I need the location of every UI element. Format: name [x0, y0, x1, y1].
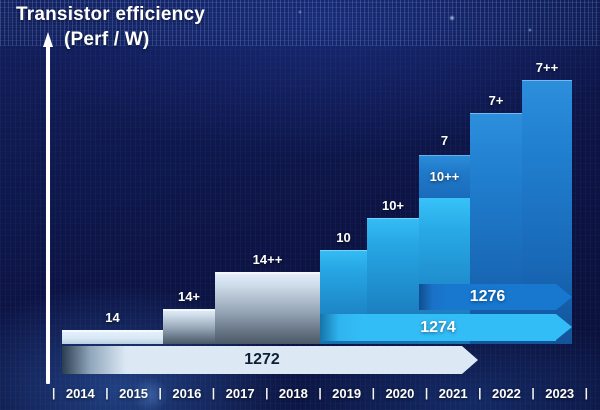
axis-year-2015: 2015 [111, 386, 157, 401]
axis-tick: | [423, 386, 430, 400]
bar-segment [215, 272, 320, 344]
y-axis [43, 32, 52, 384]
bar-label-2019: 10 [320, 230, 367, 245]
bar-label-2020: 10+ [367, 198, 419, 213]
band-arrow-tip-icon [556, 314, 572, 340]
bar-segment [62, 330, 163, 344]
bar-2016[interactable] [215, 272, 320, 344]
axis-year-2022: 2022 [483, 386, 529, 401]
bar-segment [163, 309, 215, 344]
axis-tick: | [476, 386, 483, 400]
band-label: 1272 [62, 351, 462, 369]
axis-tick: | [263, 386, 270, 400]
bar-2014[interactable] [62, 330, 163, 344]
band-arrow-tip-icon [462, 346, 478, 374]
axis-year-2014: 2014 [57, 386, 103, 401]
axis-tick: | [529, 386, 536, 400]
axis-tick: | [583, 386, 590, 400]
bar-label-2023: 7++ [522, 60, 572, 75]
band-arrow-tip-icon [556, 284, 572, 310]
axis-year-2023: 2023 [537, 386, 583, 401]
bar-label-2014: 14 [62, 310, 163, 325]
axis-year-2019: 2019 [324, 386, 370, 401]
band-1274[interactable]: 1274 [320, 314, 572, 341]
axis-tick: | [157, 386, 164, 400]
axis-tick: | [316, 386, 323, 400]
axis-year-2017: 2017 [217, 386, 263, 401]
y-axis-line [46, 44, 50, 384]
title-line-1: Transistor efficiency [16, 4, 205, 25]
bar-2015[interactable] [163, 309, 215, 344]
bar-label-secondary-2021: 7 [419, 133, 470, 148]
page-title: Transistor efficiency (Perf / W) [16, 2, 296, 52]
bar-label-2021: 10++ [419, 169, 470, 184]
axis-tick: | [210, 386, 217, 400]
axis-year-2018: 2018 [270, 386, 316, 401]
axis-tick: | [50, 386, 57, 400]
axis-year-2020: 2020 [377, 386, 423, 401]
axis-tick: | [370, 386, 377, 400]
bar-label-2016: 14++ [215, 252, 320, 267]
axis-year-2016: 2016 [164, 386, 210, 401]
x-axis-years: |2014|2015|2016|2017|2018|2019|2020|2021… [50, 382, 590, 404]
bar-label-2015: 14+ [163, 289, 215, 304]
bar-label-2022: 7+ [470, 93, 522, 108]
band-label: 1276 [419, 288, 556, 306]
axis-tick: | [103, 386, 110, 400]
axis-year-2021: 2021 [430, 386, 476, 401]
chart-canvas: Transistor efficiency (Perf / W) 1414+14… [0, 0, 600, 410]
band-1276[interactable]: 1276 [419, 284, 572, 310]
band-label: 1274 [320, 319, 556, 337]
band-1272[interactable]: 1272 [62, 346, 478, 374]
title-line-2: (Perf / W) [16, 27, 296, 52]
